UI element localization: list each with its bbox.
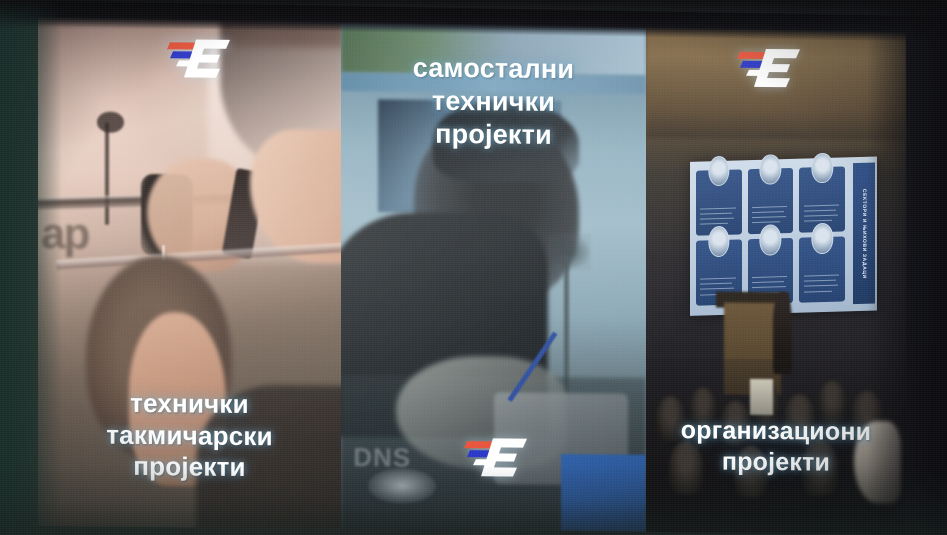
photo-stand-top — [97, 112, 124, 133]
caption-line: организациони — [646, 415, 906, 448]
e-logo-glyph — [162, 33, 236, 82]
inner-slide-person-card — [800, 237, 846, 303]
photo-wordmark: DNS — [353, 442, 411, 474]
e-logo — [459, 432, 533, 481]
caption-line: такмичарски — [38, 419, 341, 454]
caption-line: пројекти — [646, 445, 906, 478]
caption-line: пројекти — [38, 450, 341, 485]
caption-line: пројекти — [341, 117, 646, 153]
panel-organizational-projects[interactable]: СЕКТОРИ И ЊИХОВИ ЗАДАЦИ — [646, 20, 906, 534]
photo-blue-block — [561, 454, 646, 532]
photo-blurred-lettering: ap — [41, 209, 88, 259]
avatar — [708, 156, 729, 187]
photo-lamp-head — [548, 234, 591, 270]
e-logo — [162, 33, 236, 82]
caption-line: технички — [341, 84, 646, 120]
caption-line: самостални — [341, 51, 646, 87]
avatar — [760, 225, 781, 256]
caption-technical-competition-projects: технички такмичарски пројекти — [38, 387, 341, 485]
caption-line: технички — [38, 387, 341, 422]
photo-stand-pole — [105, 122, 109, 224]
projected-slide-photo: ap техничк — [0, 0, 947, 535]
inner-slide-banner-text: СЕКТОРИ И ЊИХОВИ ЗАДАЦИ — [861, 189, 867, 279]
e-logo — [732, 43, 806, 92]
caption-organizational-projects: организациони пројекти — [646, 415, 906, 478]
avatar — [760, 154, 781, 185]
avatar — [812, 223, 833, 254]
slide-surface: ap техничк — [38, 14, 906, 534]
photo-laptop — [750, 379, 773, 415]
avatar — [708, 226, 729, 257]
panel-technical-competition-projects[interactable]: ap техничк — [38, 14, 341, 529]
caption-independent-technical-projects: самостални технички пројекти — [341, 51, 646, 153]
inner-slide-vertical-banner: СЕКТОРИ И ЊИХОВИ ЗАДАЦИ — [853, 163, 875, 305]
inner-slide-card-grid — [696, 167, 846, 306]
e-logo-glyph — [732, 43, 806, 92]
panel-independent-technical-projects[interactable]: DNS самостални технички пројекти — [341, 17, 646, 532]
avatar — [812, 153, 833, 184]
e-logo-glyph — [459, 432, 533, 481]
